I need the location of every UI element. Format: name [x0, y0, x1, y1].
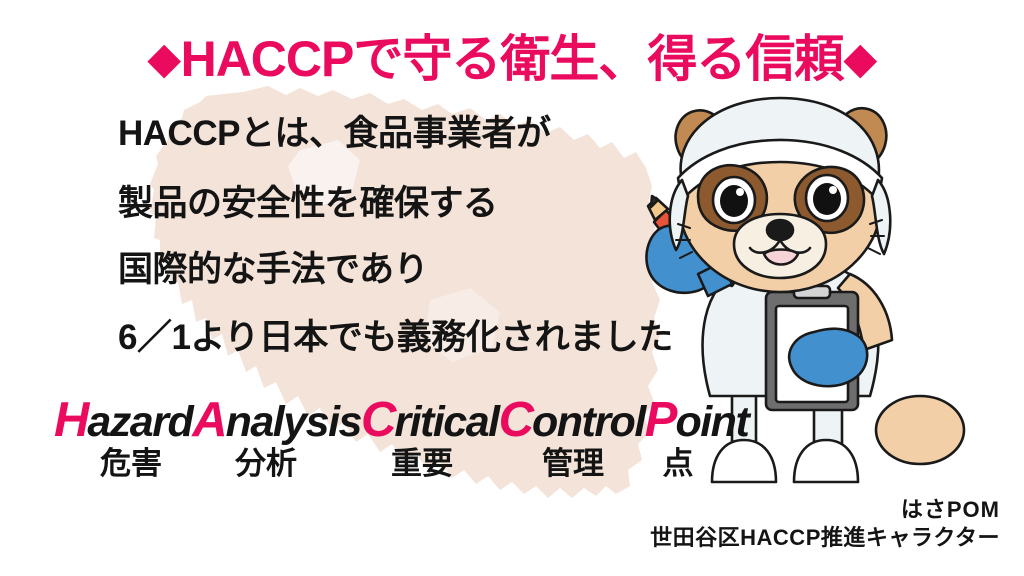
mascot-glove-right — [789, 329, 867, 387]
mascot-pupil-left — [720, 185, 748, 217]
poster-canvas: ◆HACCPで守る衛生、得る信頼◆ HACCPとは、食品事業者が 製品の安全性を… — [0, 0, 1024, 576]
acronym-cap-h: H — [54, 393, 87, 447]
mascot-boot-right — [794, 440, 858, 482]
poster-title: ◆HACCPで守る衛生、得る信頼◆ — [0, 34, 1024, 84]
gloss-kigai: 危害 — [76, 448, 186, 479]
body-line-1: HACCPとは、食品事業者が — [118, 116, 550, 151]
diamond-right-icon: ◆ — [843, 34, 876, 83]
body-line-3: 国際的な手法であり — [118, 252, 428, 287]
mascot-role: 世田谷区HACCP推進キャラクター — [650, 524, 1000, 552]
acronym-cap-p: P — [645, 393, 676, 447]
diamond-left-icon: ◆ — [147, 34, 180, 83]
acronym-cap-a: A — [192, 393, 225, 447]
acronym-gloss-row: 危害分析重要管理点 — [76, 448, 708, 479]
mascot-boot-left — [712, 440, 776, 482]
mascot-caption: はさPOM 世田谷区HACCP推進キャラクター — [650, 496, 1000, 551]
acronym-rest-control: ontrol — [532, 398, 645, 446]
acronym-cap-c1: C — [361, 393, 394, 447]
haccp-acronym-line: HazardAnalysisCriticalControlPoint — [54, 396, 748, 445]
acronym-rest-point: oint — [675, 398, 748, 446]
body-line-2: 製品の安全性を確保する — [118, 186, 498, 221]
mascot-nose — [767, 220, 793, 240]
acronym-rest-critical: ritical — [394, 398, 498, 446]
mascot-tail — [876, 396, 964, 464]
acronym-cap-c2: C — [499, 393, 532, 447]
acronym-rest-analysis: nalysis — [226, 398, 361, 446]
body-line-4: 6／1より日本でも義務化されました — [118, 320, 673, 355]
gloss-bunseki: 分析 — [186, 448, 346, 479]
acronym-rest-hazard: azard — [87, 398, 192, 446]
mascot-pupil-right — [813, 183, 841, 215]
mascot-eye-glint-right — [829, 186, 837, 194]
mascot-eye-glint-left — [736, 188, 744, 196]
mascot-cap-side-right — [872, 180, 890, 254]
mascot-name: はさPOM — [650, 496, 1000, 524]
title-text: HACCPで守る衛生、得る信頼 — [181, 31, 844, 87]
gloss-juyou: 重要 — [346, 448, 498, 479]
gloss-kanri: 管理 — [498, 448, 648, 479]
gloss-ten: 点 — [648, 448, 708, 479]
